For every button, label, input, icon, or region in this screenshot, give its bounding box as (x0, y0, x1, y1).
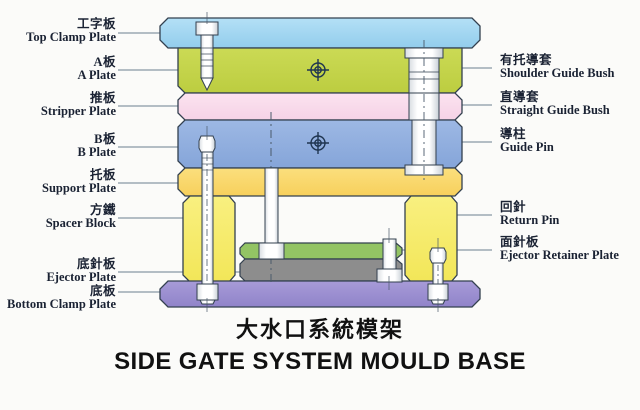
label-en: Top Clamp Plate (0, 31, 116, 44)
label-en: Shoulder Guide Bush (500, 67, 614, 80)
label-en: Bottom Clamp Plate (0, 298, 116, 311)
title-cn: 大水口系統模架 (0, 312, 640, 344)
label-cn: A板 (0, 56, 116, 69)
label-en: Spacer Block (0, 217, 116, 230)
label-cn: 導柱 (500, 128, 554, 141)
label-en: Return Pin (500, 214, 559, 227)
label-cn: B板 (0, 133, 116, 146)
label-cn: 回針 (500, 201, 559, 214)
label-b-plate: B板 B Plate (0, 133, 116, 159)
label-cn: 托板 (0, 169, 116, 182)
label-cn: 方鐵 (0, 204, 116, 217)
label-shoulder-guide-bush: 有托導套 Shoulder Guide Bush (500, 54, 614, 80)
label-en: B Plate (0, 146, 116, 159)
label-cn: 面針板 (500, 236, 619, 249)
label-en: Straight Guide Bush (500, 104, 610, 117)
label-stripper-plate: 推板 Stripper Plate (0, 92, 116, 118)
label-en: A Plate (0, 69, 116, 82)
label-ejector-plate: 底針板 Ejector Plate (0, 258, 116, 284)
diagram-stage: 工字板 Top Clamp Plate A板 A Plate 推板 Stripp… (0, 0, 640, 410)
label-cn: 工字板 (0, 18, 116, 31)
label-cn: 底板 (0, 285, 116, 298)
label-en: Guide Pin (500, 141, 554, 154)
label-spacer-block: 方鐵 Spacer Block (0, 204, 116, 230)
label-straight-guide-bush: 直導套 Straight Guide Bush (500, 91, 610, 117)
label-ejector-retainer-plate: 面針板 Ejector Retainer Plate (500, 236, 619, 262)
label-cn: 底針板 (0, 258, 116, 271)
diagram-title: 大水口系統模架 SIDE GATE SYSTEM MOULD BASE (0, 312, 640, 376)
label-cn: 直導套 (500, 91, 610, 104)
label-en: Ejector Retainer Plate (500, 249, 619, 262)
label-cn: 推板 (0, 92, 116, 105)
label-en: Support Plate (0, 182, 116, 195)
label-guide-pin: 導柱 Guide Pin (500, 128, 554, 154)
label-support-plate: 托板 Support Plate (0, 169, 116, 195)
label-a-plate: A板 A Plate (0, 56, 116, 82)
title-en: SIDE GATE SYSTEM MOULD BASE (0, 348, 640, 376)
label-en: Ejector Plate (0, 271, 116, 284)
label-cn: 有托導套 (500, 54, 614, 67)
label-bottom-clamp-plate: 底板 Bottom Clamp Plate (0, 285, 116, 311)
label-return-pin: 回針 Return Pin (500, 201, 559, 227)
label-en: Stripper Plate (0, 105, 116, 118)
label-top-clamp-plate: 工字板 Top Clamp Plate (0, 18, 116, 44)
